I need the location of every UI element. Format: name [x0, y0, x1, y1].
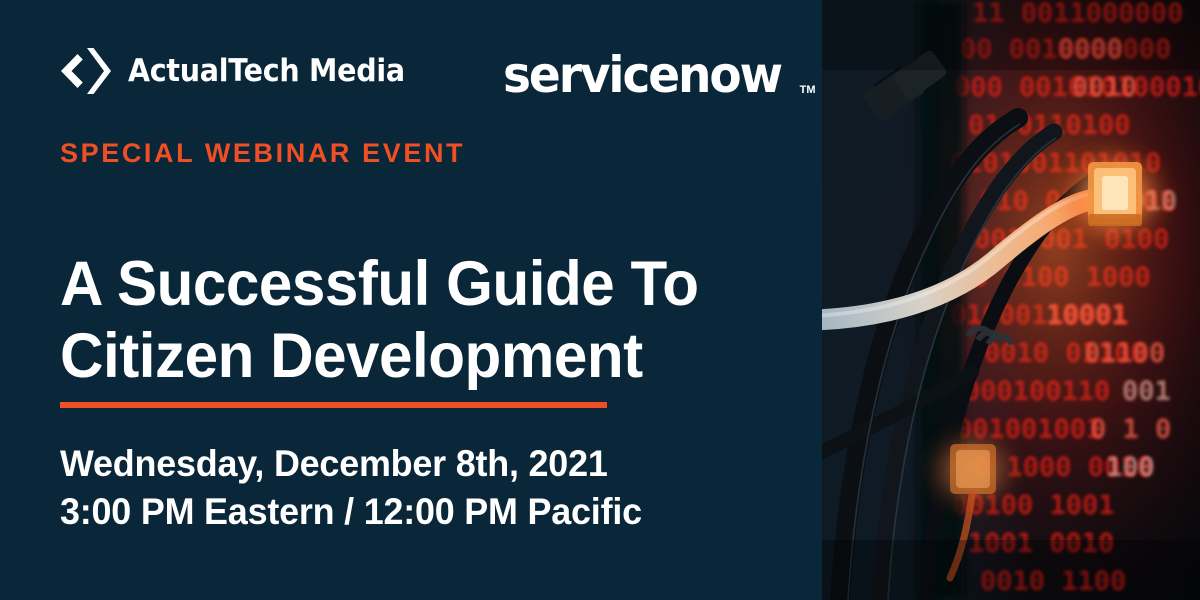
schedule-block: Wednesday, December 8th, 2021 3:00 PM Ea… — [60, 440, 642, 536]
headline-line-2: Citizen Development — [60, 320, 767, 392]
event-time: 3:00 PM Eastern / 12:00 PM Pacific — [60, 488, 642, 536]
event-type-eyebrow: SPECIAL WEBINAR EVENT — [60, 140, 465, 167]
actualtech-media-wordmark: ActualTech Media — [128, 56, 405, 87]
servicenow-wordmark: servicenow — [503, 50, 781, 100]
servicenow-logo: servicenow TM — [503, 38, 816, 104]
event-date: Wednesday, December 8th, 2021 — [60, 440, 642, 488]
page-title: A Successful Guide To Citizen Developmen… — [60, 248, 767, 392]
headline-line-1: A Successful Guide To — [60, 248, 767, 320]
hero-photo: 11 0011000000 00 0010000000 000 00101010… — [822, 0, 1200, 600]
accent-divider — [60, 402, 607, 408]
trademark-symbol: TM — [800, 85, 816, 96]
actualtech-media-logo: ActualTech Media — [60, 40, 429, 102]
content-panel: ActualTech Media servicenow TM SPECIAL W… — [0, 0, 822, 600]
code-brackets-icon — [60, 46, 112, 96]
logo-row: ActualTech Media servicenow TM — [60, 40, 816, 102]
webinar-promo-banner: ActualTech Media servicenow TM SPECIAL W… — [0, 0, 1200, 600]
network-cables-binary-photo: 11 0011000000 00 0010000000 000 00101010… — [822, 0, 1200, 600]
